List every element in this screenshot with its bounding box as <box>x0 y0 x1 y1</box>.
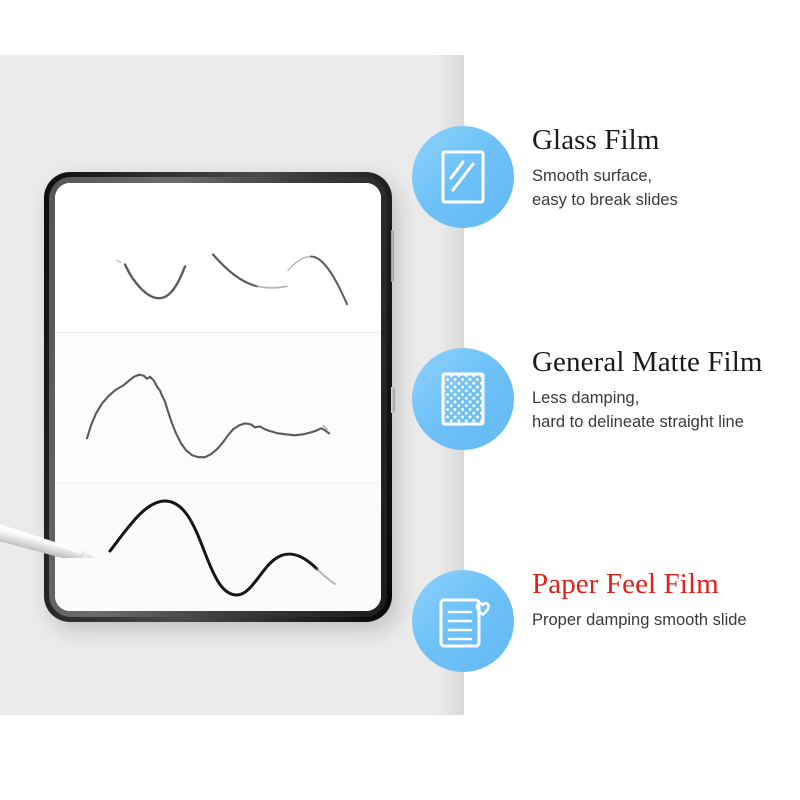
glass-panel-icon <box>412 126 514 228</box>
tablet-device <box>44 172 392 622</box>
tablet-volume-buttons <box>391 230 394 282</box>
infographic-canvas: Glass Film Smooth surface, easy to break… <box>0 0 800 800</box>
feature-title: Paper Feel Film <box>532 568 747 600</box>
paper-document-heart-icon-glyph <box>436 592 490 650</box>
tablet-screen <box>55 183 381 611</box>
feature-row-paper-feel-film: Paper Feel Film Proper damping smooth sl… <box>412 566 747 672</box>
feature-text-general-matte-film: General Matte Film Less damping, hard to… <box>532 344 763 434</box>
screen-panel-glass <box>55 183 381 333</box>
feature-text-glass-film: Glass Film Smooth surface, easy to break… <box>532 122 678 212</box>
feature-text-paper-feel-film: Paper Feel Film Proper damping smooth sl… <box>532 566 747 633</box>
tablet-power-button <box>391 387 395 413</box>
feature-row-glass-film: Glass Film Smooth surface, easy to break… <box>412 122 678 228</box>
glass-panel-icon-glyph <box>439 148 487 206</box>
feature-description: Proper damping smooth slide <box>532 609 747 632</box>
matte-dotted-panel-icon-glyph <box>438 370 488 428</box>
glass-film-stroke-sample <box>55 183 381 332</box>
matte-film-stroke-sample <box>55 334 381 483</box>
screen-panel-paper-feel <box>55 485 381 611</box>
feature-description: Less damping, hard to delineate straight… <box>532 387 763 434</box>
matte-dotted-panel-icon <box>412 348 514 450</box>
screen-panel-matte <box>55 334 381 484</box>
paper-feel-stroke-sample <box>55 485 381 611</box>
paper-document-heart-icon <box>412 570 514 672</box>
feature-title: General Matte Film <box>532 346 763 378</box>
feature-description: Smooth surface, easy to break slides <box>532 165 678 212</box>
feature-row-general-matte-film: General Matte Film Less damping, hard to… <box>412 344 763 450</box>
feature-title: Glass Film <box>532 124 678 156</box>
